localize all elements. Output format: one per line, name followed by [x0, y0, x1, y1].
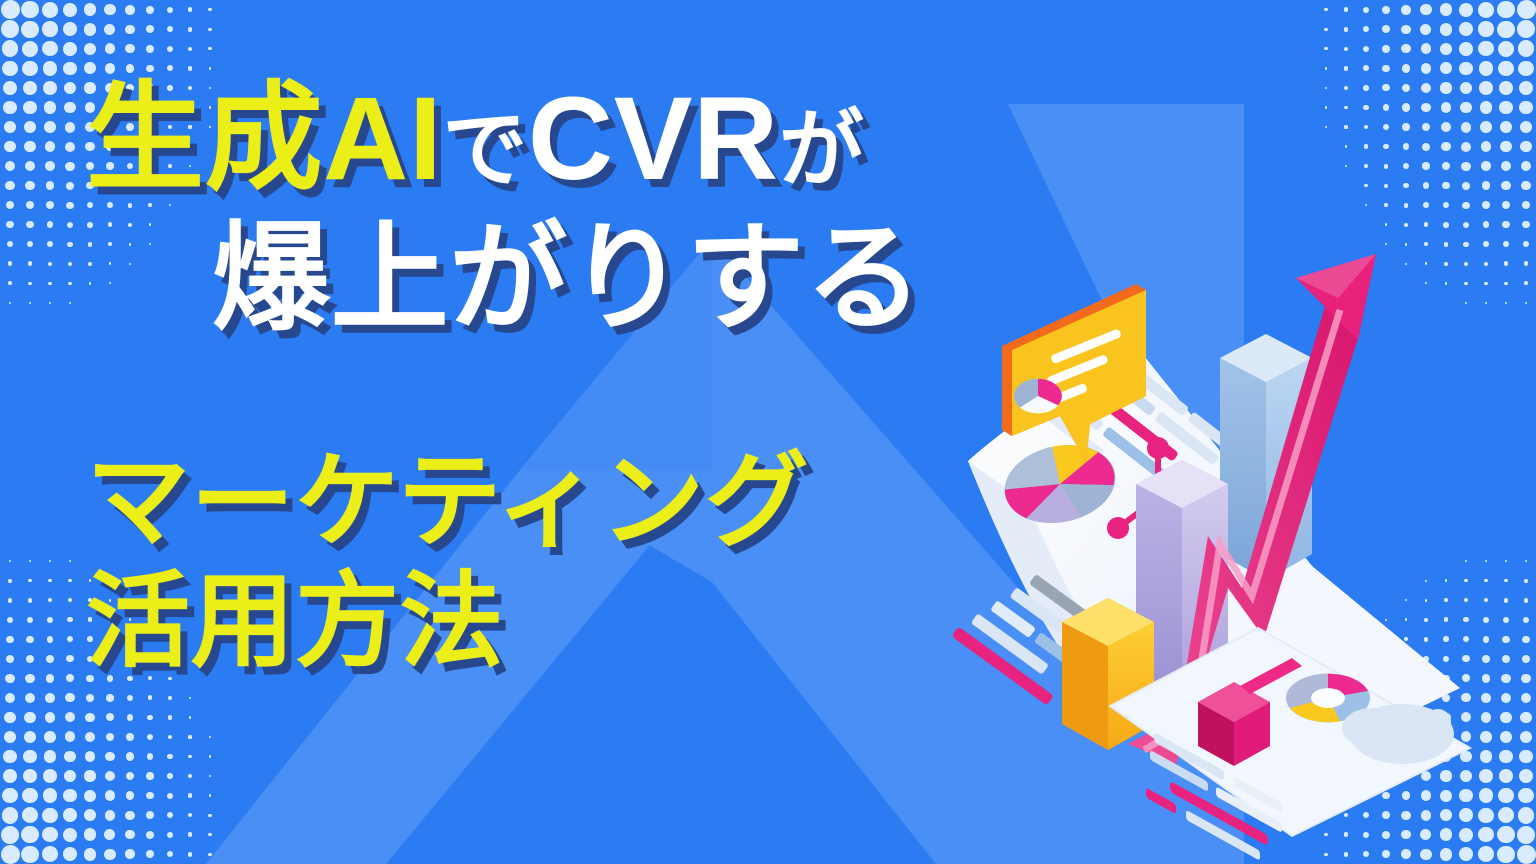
headline-seg-ga: が [779, 103, 865, 198]
headline-seg-seiseiai: 生成AI [86, 73, 442, 205]
banner-canvas: 生成AIでCVRが 爆上がりする マーケティング 活用方法 [0, 0, 1536, 864]
headline-line-4: 活用方法 [86, 570, 1032, 674]
headline-line-2: 爆上がりする [212, 220, 1032, 338]
headline-seg-cvr: CVR [528, 73, 779, 205]
headline-seg-katsuyouhouhou: 活用方法 [86, 564, 504, 680]
headline-line-1: 生成AIでCVRが [86, 80, 1032, 198]
headline-block: 生成AIでCVRが 爆上がりする マーケティング 活用方法 [72, 80, 1032, 674]
headline-line-3: マーケティング [86, 450, 1032, 554]
headline-seg-marketing: マーケティング [86, 444, 809, 560]
headline-seg-bakuagari: 爆上がりする [212, 213, 924, 345]
headline-seg-de: で [442, 103, 528, 198]
